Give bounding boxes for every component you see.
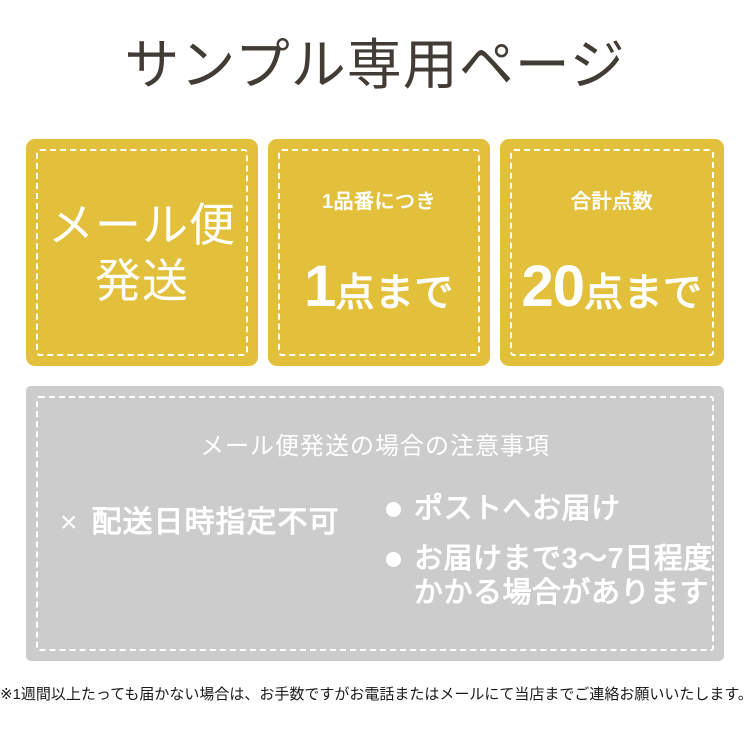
card-per-item-limit-caption: 1品番につき (268, 190, 490, 214)
notice-panel: × 配送日時指定不可 ポストへお届け お届けまで3〜7日程度 かかる場合がありま… (26, 386, 724, 661)
bullet-dot-icon (386, 502, 401, 517)
shipping-cards-row: メール便 発送 1品番につき 1点まで 合計点数 20点まで (26, 139, 724, 366)
card-mail-shipping-content: メール便 発送 (26, 197, 258, 309)
page-title: サンプル専用ページ (0, 34, 750, 96)
list-item: お届けまで3〜7日程度 かかる場合があります (386, 542, 724, 610)
card-mail-shipping-line1: メール便 (26, 197, 258, 253)
cross-mark-icon: × (60, 508, 78, 538)
restriction-row: × 配送日時指定不可 (60, 506, 340, 540)
card-total-limit-content: 合計点数 20点まで (500, 190, 724, 316)
card-per-item-limit-unit: 点まで (335, 272, 454, 315)
card-per-item-limit-content: 1品番につき 1点まで (268, 190, 490, 316)
bullet-line-1: お届けまで3〜7日程度 (414, 543, 713, 575)
card-total-limit-caption: 合計点数 (500, 190, 724, 214)
notice-restriction-column: × 配送日時指定不可 (26, 448, 386, 598)
card-per-item-limit: 1品番につき 1点まで (268, 139, 490, 366)
notice-heading: メール便発送の場合の注意事項 (26, 432, 724, 462)
bullet-dot-icon (386, 552, 401, 567)
notice-bullets-column: ポストへお届け お届けまで3〜7日程度 かかる場合があります (386, 448, 724, 610)
card-total-limit: 合計点数 20点まで (500, 139, 724, 366)
notice-panel-body: × 配送日時指定不可 ポストへお届け お届けまで3〜7日程度 かかる場合がありま… (26, 448, 724, 661)
footnote: ※1週間以上たっても届かない場合は、お手数ですがお電話またはメールにて当店までご… (0, 684, 750, 706)
card-per-item-limit-amount: 1点まで (268, 258, 490, 316)
bullet-text: ポストへお届け (414, 492, 621, 526)
restriction-label: 配送日時指定不可 (92, 506, 340, 540)
list-item: ポストへお届け (386, 492, 724, 526)
card-mail-shipping: メール便 発送 (26, 139, 258, 366)
sample-shipping-banner: サンプル専用ページ メール便 発送 1品番につき 1点まで 合計点数 (0, 0, 750, 750)
card-total-limit-amount: 20点まで (500, 258, 724, 316)
bullet-line-1: ポストへお届け (414, 493, 621, 525)
bullet-line-2: かかる場合があります (414, 576, 713, 610)
card-total-limit-unit: 点まで (584, 272, 703, 315)
card-total-limit-number: 20 (521, 254, 584, 319)
card-mail-shipping-line2: 発送 (26, 253, 258, 309)
bullet-text: お届けまで3〜7日程度 かかる場合があります (414, 542, 713, 610)
card-per-item-limit-number: 1 (304, 254, 335, 319)
